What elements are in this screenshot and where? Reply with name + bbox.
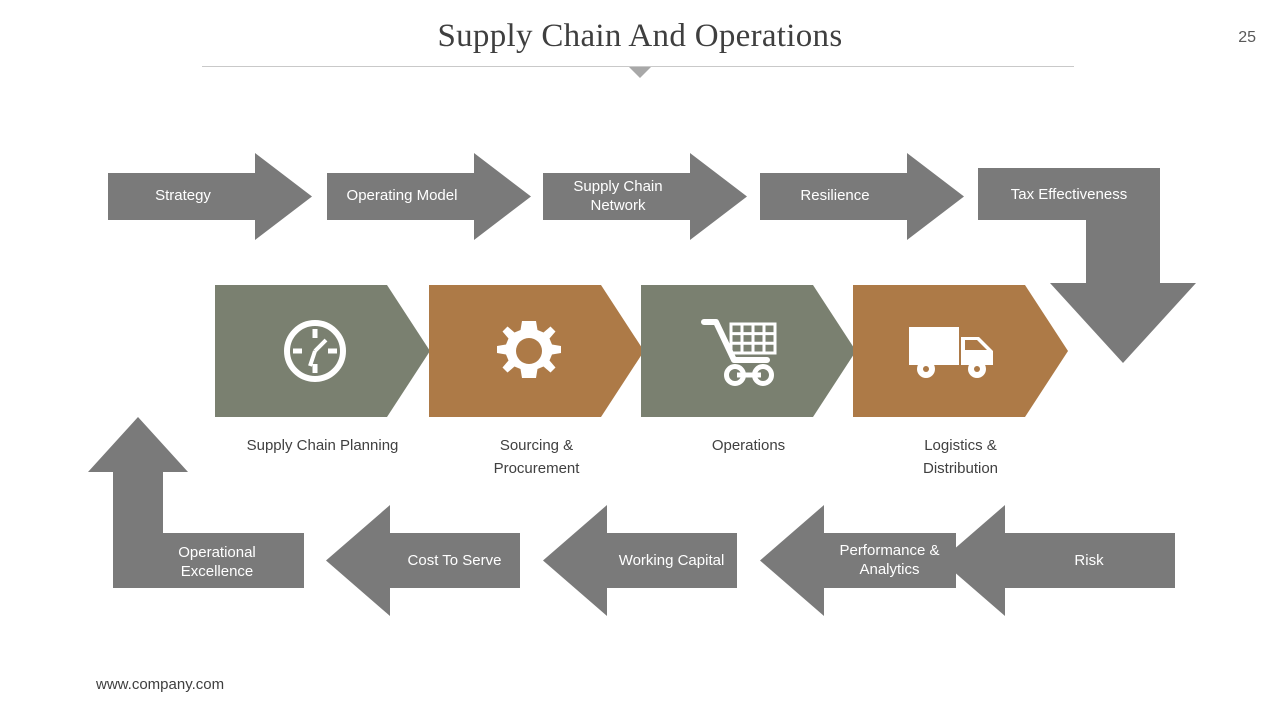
page-number: 25 [1238,29,1256,47]
bottom-step-working-capital[interactable]: Working Capital [606,533,737,588]
bottom-arrow-head-cost-to-serve [326,505,390,616]
core-stage-logistics-distribution[interactable] [853,285,1068,417]
bottom-step-operational-excellence[interactable]: Operational Excellence [88,417,304,588]
clock-icon [215,285,415,417]
bottom-step-cost-to-serve[interactable]: Cost To Serve [389,533,520,588]
core-stage-caption: Sourcing & Procurement [429,434,644,480]
footer-url: www.company.com [96,676,224,693]
core-stage-caption: Logistics & Distribution [853,434,1068,480]
top-step-resilience[interactable]: Resilience [760,153,964,240]
shopping-cart-icon [641,285,841,417]
bottom-arrow-head-performance [760,505,824,616]
gear-icon [429,285,629,417]
core-stage-caption: Operations [641,434,856,457]
top-step-operating-model[interactable]: Operating Model [327,153,531,240]
bottom-arrow-head-working-capital [543,505,607,616]
triangle-down-icon [629,67,651,78]
core-stage-operations[interactable] [641,285,856,417]
top-step-supply-chain-network[interactable]: Supply Chain Network [543,153,747,240]
bottom-step-performance-analytics[interactable]: Performance & Analytics [823,533,956,588]
bottom-step-risk[interactable]: Risk [1003,533,1175,588]
page-title: Supply Chain And Operations [0,18,1280,55]
top-step-strategy[interactable]: Strategy [108,153,312,240]
core-stage-sourcing-procurement[interactable] [429,285,644,417]
core-stage-supply-chain-planning[interactable] [215,285,430,417]
delivery-truck-icon [853,285,1053,417]
